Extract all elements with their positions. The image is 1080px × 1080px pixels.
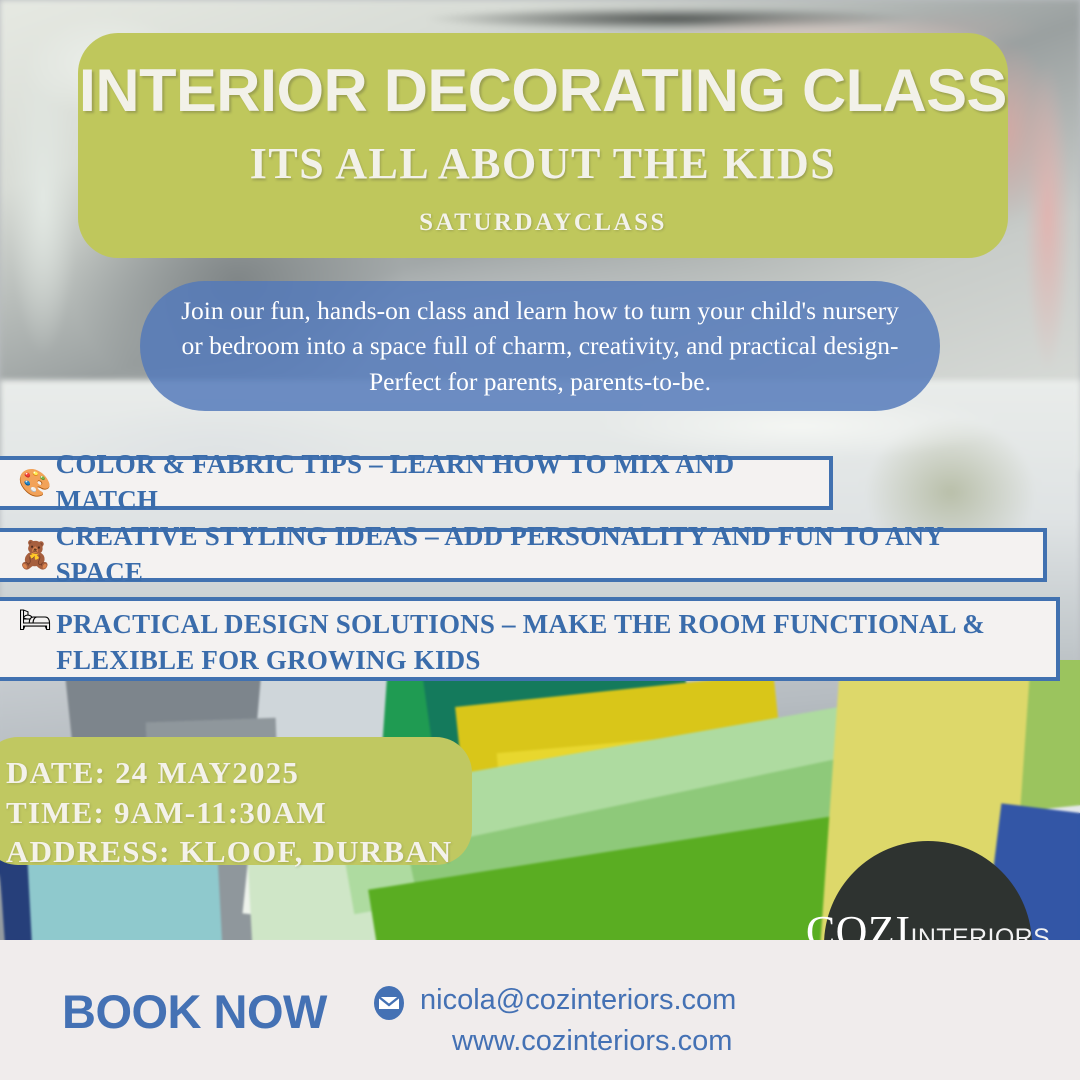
intro-panel: Join our fun, hands-on class and learn h… [140, 281, 940, 411]
bed-icon: 🛏 [18, 607, 52, 634]
page-subtitle: ITS ALL ABOUT THE KIDS [250, 138, 837, 189]
palette-icon: 🎨 [18, 470, 52, 497]
event-time: TIME: 9AM-11:30AM [6, 793, 472, 833]
header-panel: INTERIOR DECORATING CLASS ITS ALL ABOUT … [78, 33, 1008, 258]
contact-email[interactable]: nicola@cozinteriors.com [420, 984, 736, 1017]
contact-bar: BOOK NOW nicola@cozinteriors.com www.coz… [0, 940, 1080, 1080]
feature-label: PRACTICAL DESIGN SOLUTIONS – MAKE THE RO… [56, 607, 1042, 679]
event-date: DATE: 24 MAY2025 [6, 753, 472, 793]
feature-label: CREATIVE STYLING IDEAS – ADD PERSONALITY… [56, 519, 1029, 591]
feature-item-creative-styling-ideas: 🧸 CREATIVE STYLING IDEAS – ADD PERSONALI… [0, 528, 1047, 582]
teddy-bear-icon: 🧸 [18, 542, 52, 569]
feature-label: COLOR & FABRIC TIPS – LEARN HOW TO MIX A… [56, 447, 815, 519]
page-title: INTERIOR DECORATING CLASS [79, 59, 1007, 122]
contact-website[interactable]: www.cozinteriors.com [452, 1025, 732, 1058]
event-details-panel: DATE: 24 MAY2025 TIME: 9AM-11:30AM ADDRE… [0, 737, 472, 865]
feature-item-practical-design-solutions: 🛏 PRACTICAL DESIGN SOLUTIONS – MAKE THE … [0, 597, 1060, 681]
envelope-icon [369, 983, 409, 1023]
book-now-cta[interactable]: BOOK NOW [62, 984, 327, 1039]
intro-text: Join our fun, hands-on class and learn h… [176, 293, 904, 399]
feature-item-color-fabric-tips: 🎨 COLOR & FABRIC TIPS – LEARN HOW TO MIX… [0, 456, 833, 510]
poster-canvas: INTERIOR DECORATING CLASS ITS ALL ABOUT … [0, 0, 1080, 1080]
event-address: ADDRESS: KLOOF, DURBAN [6, 832, 472, 872]
page-tagline: SATURDAYCLASS [419, 209, 667, 237]
